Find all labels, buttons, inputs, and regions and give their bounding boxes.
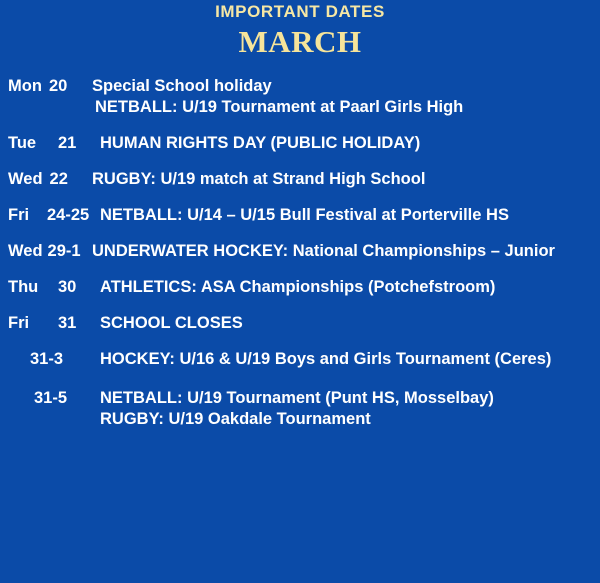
schedule-row-description: Special School holiday NETBALL: U/19 Tou… (92, 76, 596, 118)
schedule-row-date: 31-5 (0, 388, 92, 409)
schedule-row: Tue 21 HUMAN RIGHTS DAY (PUBLIC HOLIDAY) (0, 133, 596, 154)
event-line: RUGBY: U/19 match at Strand High School (92, 169, 596, 190)
schedule-row-description: NETBALL: U/14 – U/15 Bull Festival at Po… (92, 205, 596, 226)
event-line: HOCKEY: U/16 & U/19 Boys and Girls Tourn… (100, 349, 596, 370)
schedule-row-description: HOCKEY: U/16 & U/19 Boys and Girls Tourn… (92, 349, 596, 370)
event-line: ATHLETICS: ASA Championships (Potchefstr… (100, 277, 596, 298)
day-number: 31-5 (34, 389, 67, 407)
schedule-row-date: Wed 29-1 (0, 241, 92, 262)
schedule-row: Fri 24-25 NETBALL: U/14 – U/15 Bull Fest… (0, 205, 596, 226)
schedule-row-description: ATHLETICS: ASA Championships (Potchefstr… (92, 277, 596, 298)
schedule-row-date: Fri 31 (0, 313, 92, 334)
day-number: 20 (42, 76, 67, 97)
schedule-row-description: UNDERWATER HOCKEY: National Championship… (92, 241, 596, 262)
poster-kicker: IMPORTANT DATES (0, 2, 600, 22)
day-name: Tue (8, 133, 42, 154)
schedule-row: 31-5 NETBALL: U/19 Tournament (Punt HS, … (0, 388, 596, 430)
schedule-row-date: Wed 22 (0, 169, 92, 190)
poster-month-title: MARCH (0, 24, 600, 60)
schedule-row-description: HUMAN RIGHTS DAY (PUBLIC HOLIDAY) (92, 133, 596, 154)
event-line: NETBALL: U/19 Tournament (Punt HS, Mosse… (100, 388, 596, 409)
day-number: 24-25 (42, 205, 89, 226)
day-number: 30 (42, 277, 76, 298)
event-line: HUMAN RIGHTS DAY (PUBLIC HOLIDAY) (100, 133, 596, 154)
schedule-row-date: Tue 21 (0, 133, 92, 154)
day-name: Thu (8, 277, 42, 298)
poster-header: IMPORTANT DATES MARCH (0, 0, 600, 60)
day-number: 31 (42, 313, 76, 334)
schedule-row: Mon 20 Special School holiday NETBALL: U… (0, 76, 596, 118)
schedule-row-date: 31-3 (0, 349, 92, 370)
day-number: 21 (42, 133, 76, 154)
day-name: Wed (8, 169, 43, 190)
schedule-row-date: Mon 20 (0, 76, 92, 97)
day-number: 22 (43, 169, 68, 190)
schedule-row-date: Fri 24-25 (0, 205, 92, 226)
event-line: NETBALL: U/19 Tournament at Paarl Girls … (92, 97, 596, 118)
day-number: 29-1 (43, 241, 81, 262)
schedule-row: Fri 31 SCHOOL CLOSES (0, 313, 596, 334)
schedule-row: Wed 22 RUGBY: U/19 match at Strand High … (0, 169, 596, 190)
schedule-row-description: SCHOOL CLOSES (92, 313, 596, 334)
event-line: SCHOOL CLOSES (100, 313, 596, 334)
schedule-row: Thu 30 ATHLETICS: ASA Championships (Pot… (0, 277, 596, 298)
event-line: Special School holiday (92, 76, 596, 97)
day-name: Fri (8, 205, 42, 226)
schedule-row-date: Thu 30 (0, 277, 92, 298)
important-dates-poster: IMPORTANT DATES MARCH Mon 20 Special Sch… (0, 0, 600, 583)
day-name: Wed (8, 241, 43, 262)
day-number: 31-3 (30, 350, 63, 368)
schedule-row: 31-3 HOCKEY: U/16 & U/19 Boys and Girls … (0, 349, 596, 370)
event-line: RUGBY: U/19 Oakdale Tournament (100, 409, 596, 430)
day-name: Mon (8, 76, 42, 97)
schedule-row-description: NETBALL: U/19 Tournament (Punt HS, Mosse… (92, 388, 596, 430)
schedule-row-description: RUGBY: U/19 match at Strand High School (92, 169, 596, 190)
schedule-row: Wed 29-1 UNDERWATER HOCKEY: National Cha… (0, 241, 596, 262)
day-name: Fri (8, 313, 42, 334)
event-line: UNDERWATER HOCKEY: National Championship… (92, 241, 596, 262)
schedule-list: Mon 20 Special School holiday NETBALL: U… (0, 76, 600, 430)
event-line: NETBALL: U/14 – U/15 Bull Festival at Po… (100, 205, 596, 226)
